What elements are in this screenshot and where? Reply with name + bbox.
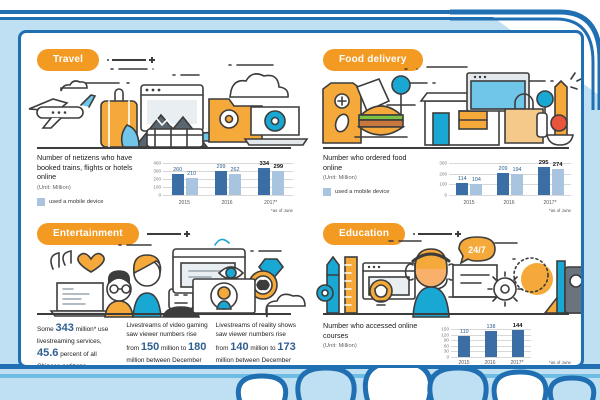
bar-group: 334 299 [258, 163, 284, 195]
bar-group: 295 274 [538, 163, 564, 195]
bar-mobile: 262 [229, 174, 241, 195]
svg-text:24/7: 24/7 [468, 245, 486, 255]
ent2-number-2: 180 [188, 341, 206, 353]
section-entertainment: Entertainment [23, 209, 305, 368]
bar-total: 209 [497, 173, 509, 195]
legend-swatch [323, 188, 331, 196]
x-label: 2016 [221, 200, 232, 206]
ent2-number-1: 150 [141, 341, 159, 353]
food-data-row: Number who ordered food online (Unit: Mi… [323, 153, 573, 207]
bar-group: 144 [512, 329, 524, 357]
food-bar-chart: 300 200 100 0 114 104 209 194 [433, 153, 573, 207]
bar-value: 210 [187, 171, 196, 177]
ent2-post: million between December 2016 and June [126, 357, 201, 369]
food-info: Number who ordered food online (Unit: Mi… [323, 153, 427, 207]
food-legend: used a mobile device [323, 188, 427, 196]
bar-value: 299 [273, 164, 283, 170]
ent1-number: 343 [55, 322, 73, 334]
food-unit: (Unit: Million) [323, 175, 427, 181]
bar-value: 299 [216, 164, 225, 170]
education-illustration: 24/7 [309, 231, 583, 319]
bar-value: 209 [498, 166, 507, 172]
food-legend-label: used a mobile device [335, 189, 389, 195]
ytick: 200 [153, 177, 161, 182]
bar-value: 114 [458, 176, 467, 182]
x-label: 2017* [543, 200, 556, 206]
ytick: 60 [444, 343, 449, 348]
travel-info-title: Number of netizens who have booked train… [37, 153, 141, 182]
food-ground-line [323, 147, 569, 149]
bar-mobile: 210 [186, 178, 198, 195]
bar-value: 262 [230, 167, 239, 173]
x-label: 2017* [264, 200, 277, 206]
education-data-row: Number who accessed online courses (Unit… [323, 321, 573, 367]
ytick: 400 [153, 161, 161, 166]
bar-total: 114 [456, 183, 468, 195]
legend-swatch [37, 198, 45, 206]
ytick: 0 [444, 193, 447, 198]
bar-group: 260 210 [172, 163, 198, 195]
section-food-delivery: Food delivery [309, 35, 583, 207]
ytick: 90 [444, 338, 449, 343]
content-card: Travel [18, 30, 584, 368]
education-x-labels: 2015 2016 2017* [451, 360, 531, 366]
ent2-mid: million to [159, 345, 188, 352]
ytick: 120 [441, 332, 449, 337]
entertainment-col-2: Livestreams of video gaming saw viewer n… [126, 321, 207, 368]
section-education: Education [309, 209, 583, 368]
food-illustration [309, 61, 583, 153]
ytick: 0 [158, 193, 161, 198]
bar-mobile: 299 [272, 171, 284, 195]
ytick: 100 [153, 185, 161, 190]
bar-value: 104 [472, 177, 481, 183]
bar-mobile: 104 [470, 184, 482, 195]
entertainment-col-1: Some 343 million* use livestreaming serv… [37, 321, 118, 368]
x-label: 2015 [179, 200, 190, 206]
food-plot: 300 200 100 0 114 104 209 194 [449, 163, 571, 195]
x-label: 2016 [503, 200, 514, 206]
entertainment-text-columns: Some 343 million* use livestreaming serv… [37, 321, 297, 368]
travel-legend: used a mobile device [37, 198, 141, 206]
bar-value: 274 [553, 162, 563, 168]
bar-mobile: 194 [511, 174, 523, 195]
bar-total: 110 [458, 336, 470, 357]
education-info-title: Number who accessed online courses [323, 321, 427, 340]
food-info-title: Number who ordered food online [323, 153, 427, 172]
x-label: 2017* [510, 360, 523, 366]
bar-total: 138 [485, 331, 497, 357]
bar-group: 110 [458, 329, 470, 357]
travel-legend-label: used a mobile device [49, 199, 103, 205]
x-label: 2016 [484, 360, 495, 366]
bar-group: 138 [485, 329, 497, 357]
bar-value: 295 [539, 160, 549, 166]
bar-value: 110 [460, 329, 469, 335]
travel-info: Number of netizens who have booked train… [37, 153, 141, 207]
ytick: 150 [441, 327, 449, 332]
bar-mobile: 274 [552, 169, 564, 195]
travel-unit: (Unit: Million) [37, 185, 141, 191]
ytick: 300 [153, 169, 161, 174]
bar-total: 299 [215, 171, 227, 195]
bar-total: 144 [512, 330, 524, 357]
travel-plot: 400 300 200 100 0 260 210 299 [163, 163, 293, 195]
travel-bar-chart: 400 300 200 100 0 260 210 299 [147, 153, 295, 207]
ent3-post: million between December 2016 and June [216, 357, 291, 369]
education-bar-chart: 150 120 90 60 30 0 110 138 [433, 321, 573, 367]
infographic-root: Travel [0, 0, 600, 400]
education-ground-line [323, 313, 569, 315]
ent3-mid: million to [249, 345, 278, 352]
bar-total: 260 [172, 174, 184, 195]
bar-total: 295 [538, 167, 550, 195]
bar-total: 334 [258, 168, 270, 195]
bar-group: 114 104 [456, 163, 482, 195]
entertainment-col-3: Livestreams of reality shows saw viewer … [216, 321, 297, 368]
bar-value: 144 [513, 323, 523, 329]
entertainment-illustration [23, 231, 305, 319]
bar-group: 209 194 [497, 163, 523, 195]
ent3-number-1: 140 [230, 341, 248, 353]
ent1-pre: Some [37, 326, 55, 333]
education-unit: (Unit: Million) [323, 343, 427, 349]
entertainment-ground-line [37, 313, 291, 315]
travel-ground-line [37, 147, 291, 149]
travel-data-row: Number of netizens who have booked train… [37, 153, 295, 207]
x-label: 2015 [458, 360, 469, 366]
bar-value: 194 [512, 167, 521, 173]
ent1-number-2: 45.6 [37, 347, 58, 359]
education-asof-note: *as of June [549, 360, 571, 365]
ytick: 300 [439, 161, 447, 166]
bar-value: 334 [259, 161, 269, 167]
bar-value: 138 [486, 324, 495, 330]
bar-group: 299 262 [215, 163, 241, 195]
ytick: 30 [444, 349, 449, 354]
travel-illustration [23, 61, 305, 153]
ytick: 0 [446, 355, 449, 360]
education-plot: 150 120 90 60 30 0 110 138 [451, 329, 531, 357]
x-label: 2015 [463, 200, 474, 206]
food-x-labels: 2015 2016 2017* [449, 200, 571, 206]
ent3-number-2: 173 [277, 341, 295, 353]
education-info: Number who accessed online courses (Unit… [323, 321, 427, 367]
ytick: 100 [439, 182, 447, 187]
travel-x-labels: 2015 2016 2017* [163, 200, 293, 206]
ytick: 200 [439, 171, 447, 176]
section-travel: Travel [23, 35, 305, 207]
bar-value: 260 [173, 167, 182, 173]
